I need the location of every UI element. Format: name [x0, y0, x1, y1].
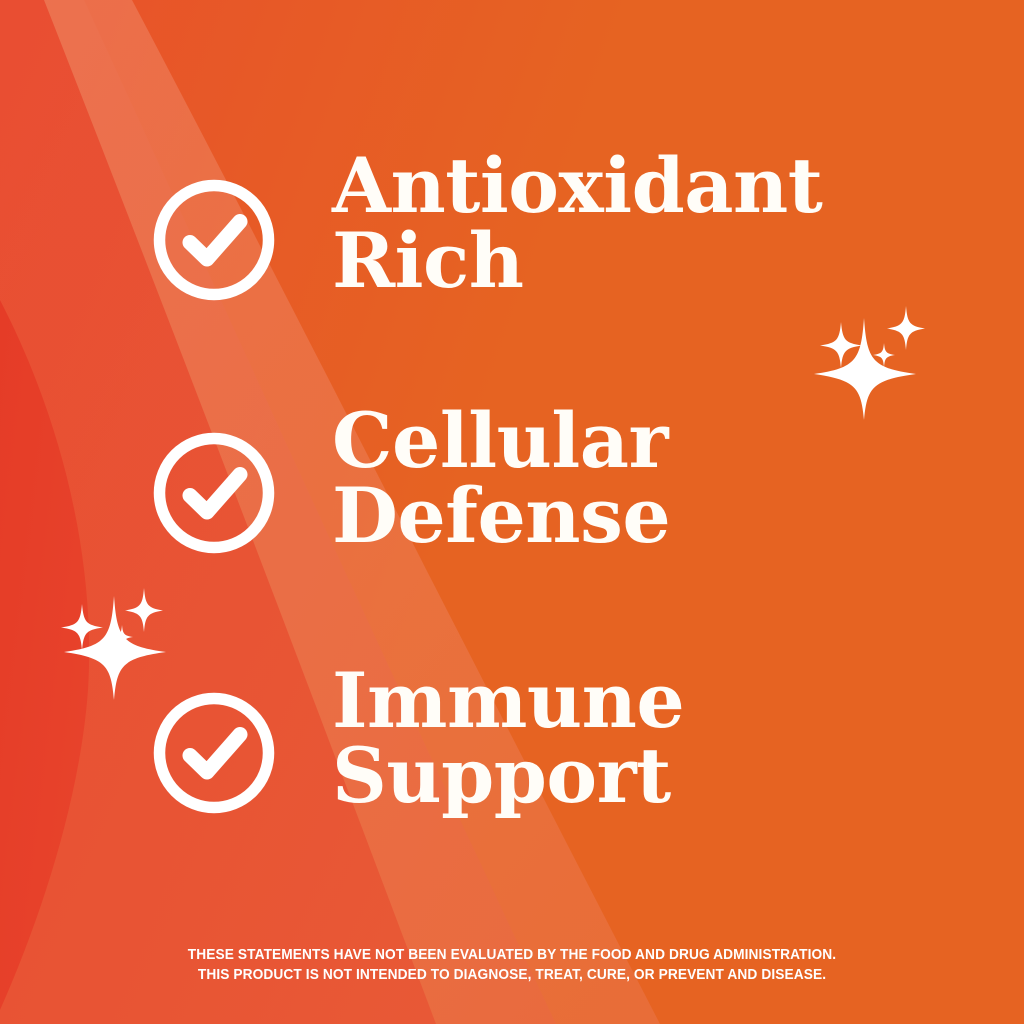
fda-disclaimer: THESE STATEMENTS HAVE NOT BEEN EVALUATED… — [31, 945, 994, 986]
benefit-item-cellular-defense: Cellular Defense — [150, 403, 670, 557]
check-circle-icon — [150, 429, 278, 557]
benefit-label: Cellular Defense — [332, 403, 670, 553]
benefit-item-antioxidant-rich: Antioxidant Rich — [150, 148, 822, 304]
benefit-item-immune-support: Immune Support — [150, 663, 684, 817]
benefit-label: Immune Support — [332, 663, 684, 813]
benefit-label: Antioxidant Rich — [332, 148, 822, 298]
benefits-list: Antioxidant Rich Cellular Defense Immune… — [0, 0, 1024, 1024]
benefits-card: Antioxidant Rich Cellular Defense Immune… — [0, 0, 1024, 1024]
check-circle-icon — [150, 689, 278, 817]
check-circle-icon — [150, 176, 278, 304]
disclaimer-line-2: THIS PRODUCT IS NOT INTENDED TO DIAGNOSE… — [31, 965, 994, 986]
disclaimer-line-1: THESE STATEMENTS HAVE NOT BEEN EVALUATED… — [31, 945, 994, 966]
